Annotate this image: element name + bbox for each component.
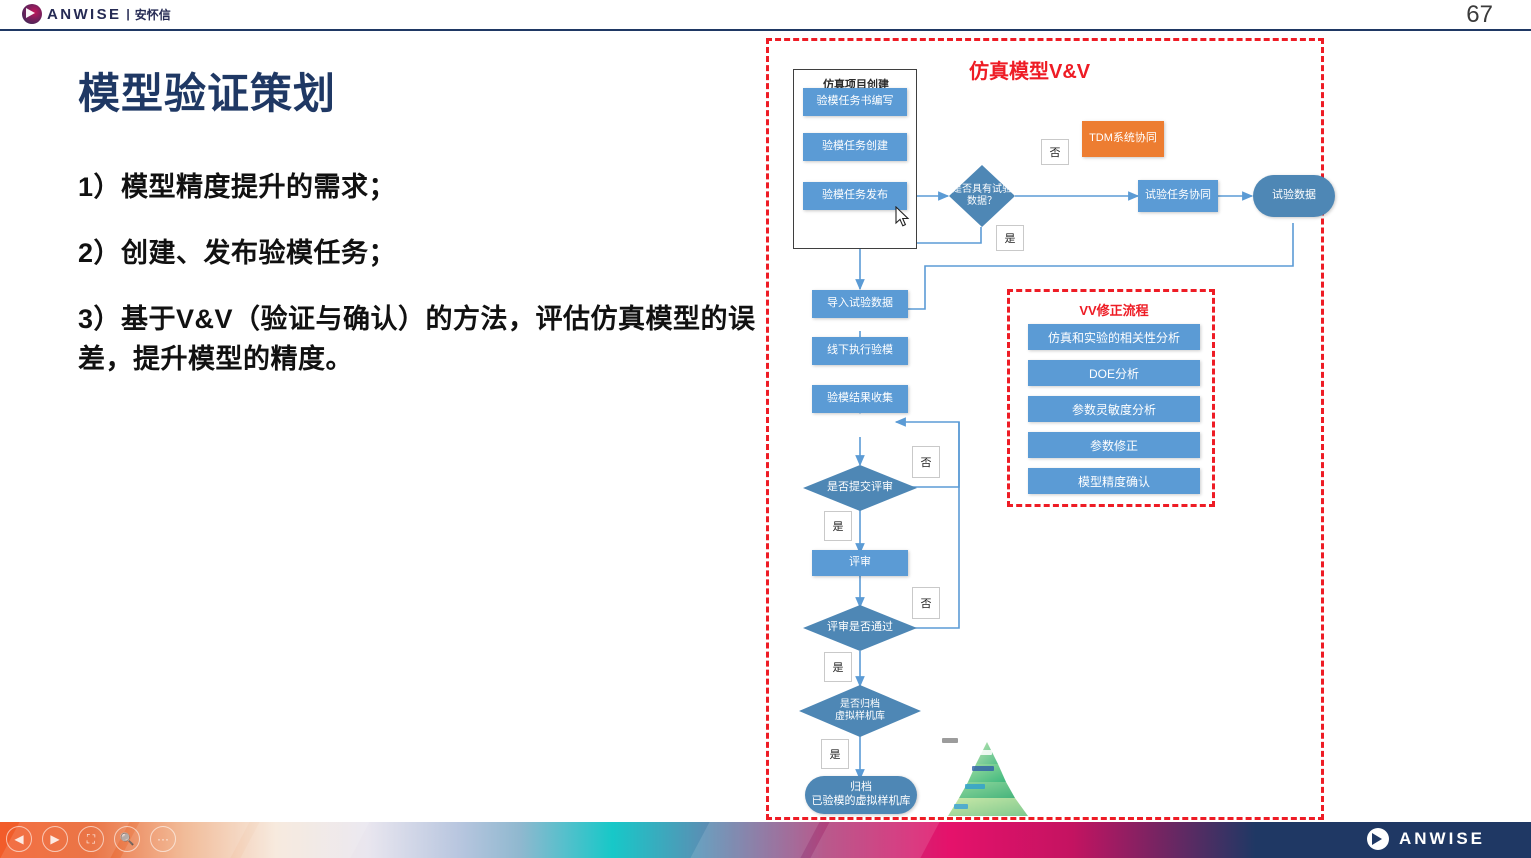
pyramid-graphic: [940, 736, 1035, 821]
node-test-data[interactable]: 试验数据: [1253, 175, 1335, 217]
more-options-icon[interactable]: ···: [150, 826, 176, 852]
vv-correction-panel: VV修正流程 仿真和实验的相关性分析 DOE分析 参数灵敏度分析 参数修正 模型…: [1007, 289, 1215, 507]
node-archive-library[interactable]: 归档 已验模的虚拟样机库: [805, 776, 917, 814]
playback-controls: ◀ ▶ ⛶ 🔍 ···: [6, 826, 176, 852]
page-number: 67: [1466, 1, 1493, 29]
top-bar: ANWISE | 安怀信 67: [0, 0, 1531, 30]
decision-archive[interactable]: 是否归档 虚拟样机库: [799, 685, 921, 737]
bullet-item-1: 1）模型精度提升的需求；: [78, 168, 758, 208]
flowchart-title: 仿真模型V&V: [969, 55, 1090, 84]
vv-item-correlation-analysis[interactable]: 仿真和实验的相关性分析: [1028, 324, 1200, 350]
mouse-cursor-icon: [895, 206, 911, 228]
page-title: 模型验证策划: [78, 60, 336, 121]
vv-item-sensitivity-analysis[interactable]: 参数灵敏度分析: [1028, 396, 1200, 422]
node-review[interactable]: 评审: [812, 550, 908, 576]
label-no-submit-review: 否: [912, 446, 940, 478]
node-offline-verification[interactable]: 线下执行验模: [812, 337, 908, 365]
brand-name: ANWISE: [47, 6, 121, 23]
bullet-item-3: 3）基于V&V（验证与确认）的方法，评估仿真模型的误差，提升模型的精度。: [78, 300, 758, 380]
previous-icon[interactable]: ◀: [6, 826, 32, 852]
node-tdm-collaboration[interactable]: TDM系统协同: [1082, 121, 1164, 157]
decision-submit-review[interactable]: 是否提交评审: [803, 465, 917, 511]
vv-item-accuracy-confirm[interactable]: 模型精度确认: [1028, 468, 1200, 494]
flowchart-panel: 仿真模型V&V: [766, 38, 1324, 820]
brand-separator: |: [126, 7, 129, 21]
footer-brand-name: ANWISE: [1399, 829, 1485, 849]
node-import-test-data[interactable]: 导入试验数据: [812, 290, 908, 318]
vv-item-parameter-correction[interactable]: 参数修正: [1028, 432, 1200, 458]
brand-logo: ANWISE | 安怀信: [22, 4, 171, 24]
label-yes-review-pass: 是: [824, 652, 852, 682]
brand-name-cn: 安怀信: [135, 6, 171, 23]
node-verify-task-create[interactable]: 验模任务创建: [803, 133, 907, 161]
slide-root: ANWISE | 安怀信 67 模型验证策划 1）模型精度提升的需求； 2）创建…: [0, 0, 1531, 858]
label-yes-submit-review: 是: [824, 511, 852, 541]
play-icon[interactable]: ▶: [42, 826, 68, 852]
fit-screen-icon[interactable]: ⛶: [78, 826, 104, 852]
label-yes-has-test-data: 是: [996, 225, 1024, 251]
decision-has-test-data[interactable]: 是否具有试验 数据？: [949, 165, 1015, 227]
search-icon[interactable]: 🔍: [114, 826, 140, 852]
node-test-task-collaboration[interactable]: 试验任务协同: [1138, 180, 1218, 212]
label-no-review-pass: 否: [912, 587, 940, 619]
bullet-list: 1）模型精度提升的需求； 2）创建、发布验模任务； 3）基于V&V（验证与确认）…: [78, 168, 758, 380]
anwise-logo-icon: [22, 4, 42, 24]
header-divider: [0, 29, 1531, 31]
decision-review-pass[interactable]: 评审是否通过: [803, 605, 917, 651]
bullet-item-2: 2）创建、发布验模任务；: [78, 234, 758, 274]
vv-correction-title: VV修正流程: [1010, 300, 1218, 319]
node-collect-results[interactable]: 验模结果收集: [812, 385, 908, 413]
node-verify-task-doc[interactable]: 验模任务书编写: [803, 88, 907, 116]
label-no-has-test-data: 否: [1041, 139, 1069, 165]
label-yes-archive: 是: [821, 739, 849, 769]
bottom-toolbar: ◀ ▶ ⛶ 🔍 ··· ANWISE: [0, 822, 1531, 858]
footer-brand-logo: ANWISE: [1367, 828, 1485, 850]
vv-item-doe-analysis[interactable]: DOE分析: [1028, 360, 1200, 386]
node-verify-task-publish[interactable]: 验模任务发布: [803, 182, 907, 210]
anwise-footer-logo-icon: [1367, 828, 1389, 850]
